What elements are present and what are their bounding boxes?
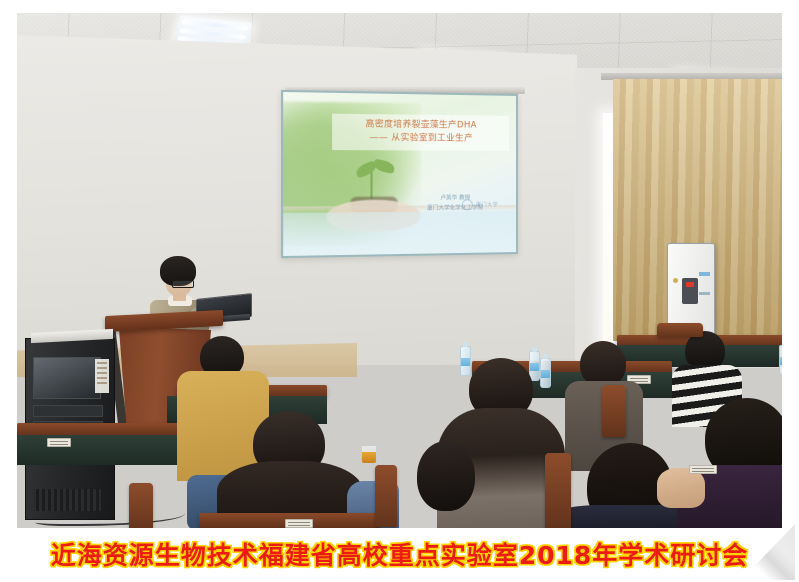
audience-hand [657,468,705,508]
ac-display-panel [682,278,698,304]
desk-row3-left-face [17,435,182,465]
logo-seal-icon [462,199,473,210]
university-logo: 厦门大学 [462,199,498,210]
slide-title-line1: 高密度培养裂壶藻生产DHA [335,118,506,133]
floor-cable [35,508,185,526]
chair-back-3 [129,483,153,528]
water-bottle-3 [540,358,551,388]
caption-bar: 近海资源生物技术福建省高校重点实验室2018年学术研讨会 [0,528,799,582]
slide-title-block: 高密度培养裂壶藻生产DHA —— 从实验室到工业生产 [332,114,509,151]
chair-back-2 [657,323,703,337]
audience-head-mid-front [417,441,475,511]
slide-title-line2: —— 从实验室到工业生产 [335,132,506,147]
presentation-slide: 高密度培养裂壶藻生产DHA —— 从实验室到工业生产 卢英华 教授 厦门大学化学… [283,92,516,256]
ac-brand-badge [699,272,710,276]
chair-back-1 [602,385,626,437]
photo-card: 高密度培养裂壶藻生产DHA —— 从实验室到工业生产 卢英华 教授 厦门大学化学… [0,0,799,582]
rack-slot-1 [33,405,103,417]
seminar-photograph: 高密度培养裂壶藻生产DHA —— 从实验室到工业生产 卢英华 教授 厦门大学化学… [17,13,782,528]
projection-screen: 高密度培养裂壶藻生产DHA —— 从实验室到工业生产 卢英华 教授 厦门大学化学… [291,94,518,254]
eyeglasses-icon [172,280,194,288]
slide-bottom-band [283,211,516,256]
desk-nameplate-5 [689,465,717,474]
caption-title: 近海资源生物技术福建省高校重点实验室2018年学术研讨会 [0,536,799,572]
rack-glass-door [33,357,101,399]
ac-label-strip [699,292,710,295]
lectern-top [105,310,223,332]
desk-nameplate-4 [285,519,313,528]
ac-indicator-dot [673,278,678,283]
logo-text: 厦门大学 [476,201,498,208]
water-bottle-1 [460,346,471,376]
rack-warning-label [95,359,109,393]
chair-back-5 [545,453,571,528]
tea-glass-1 [361,445,377,464]
screen-surface: 高密度培养裂壶藻生产DHA —— 从实验室到工业生产 卢英华 教授 厦门大学化学… [281,90,518,258]
water-bottle-5 [779,345,782,375]
desk-nameplate-3 [47,438,71,447]
chair-back-4 [375,465,397,527]
